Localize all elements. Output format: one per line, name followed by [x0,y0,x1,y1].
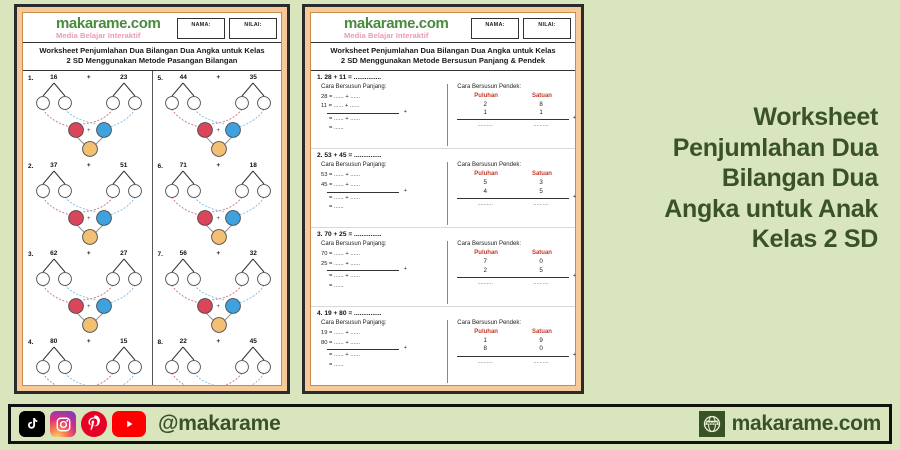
long-row-sum-parts: = ...... + ...... [321,272,442,282]
answer-blanks-row[interactable]: .................... [457,201,569,207]
brand-tagline: Media Belajar Interaktif [56,32,172,40]
long-method-rule [327,113,399,114]
method-divider [447,84,448,147]
number-bond-diagram: 62+27+ [30,250,148,335]
long-row-sum-total: = ...... [321,203,442,213]
long-method-heading: Cara Bersusun Panjang: [321,84,442,90]
answer-blanks-row[interactable]: .................... [457,122,569,128]
place-value-row: 19 [457,337,569,345]
ones-digit: 8 [539,101,542,109]
column-addition-problem: 1. 28 + 11 = ...............Cara Bersusu… [311,71,575,150]
brand-header-left: makarame.com Media Belajar Interaktif NA… [23,13,281,42]
tens-answer-blank[interactable]: .......... [478,122,493,128]
ones-answer-blank[interactable]: .......... [533,122,548,128]
long-row-addend-a: 28 = ...... + ...... [321,93,442,103]
social-handle: @makarame [158,412,281,436]
column-addition-problem: 4. 19 + 80 = ...............Cara Bersusu… [311,307,575,385]
field-nilai[interactable]: NILAI: [523,18,571,39]
instagram-icon[interactable] [50,411,76,437]
long-method-heading: Cara Bersusun Panjang: [321,241,442,247]
short-method-column: Cara Bersusun Pendek:PuluhanSatuan5345..… [453,162,569,225]
problem-statement: 3. 70 + 25 = ............... [317,231,569,238]
column-header-puluhan: Puluhan [474,93,498,99]
short-method-rule [457,198,569,199]
ones-digit: 1 [539,109,542,117]
place-value-row: 25 [457,267,569,275]
tens-answer-blank[interactable]: .......... [478,359,493,365]
promo-line-1: Worksheet [558,102,878,133]
column-header-puluhan: Puluhan [474,250,498,256]
column-addition-problem: 3. 70 + 25 = ...............Cara Bersusu… [311,228,575,307]
long-method-column: Cara Bersusun Panjang:19 = ...... + ....… [317,320,442,383]
svg-text:WWW: WWW [706,421,717,425]
tens-digit: 5 [483,179,486,187]
poster-canvas: makarame.com Media Belajar Interaktif NA… [0,0,900,450]
long-method-rule [327,270,399,271]
tens-digit: 1 [483,109,486,117]
worksheet-title-left: Worksheet Penjumlahan Dua Bilangan Dua A… [23,42,281,71]
ones-digit: 5 [539,188,542,196]
long-method-rule [327,349,399,350]
number-bond-diagram: 80+15+ [30,338,148,386]
short-method-rule [457,119,569,120]
long-row-addend-b: 80 = ...... + ...... [321,339,442,349]
number-bond-cell: 3.62+27+ [23,247,152,335]
tens-digit: 7 [483,258,486,266]
ones-digit: 0 [539,258,542,266]
tiktok-icon[interactable] [19,411,45,437]
column-addition-list: 1. 28 + 11 = ...............Cara Bersusu… [311,71,575,386]
long-row-addend-b: 45 = ...... + ...... [321,181,442,191]
column-addition-problem: 2. 53 + 45 = ...............Cara Bersusu… [311,149,575,228]
place-value-row: 28 [457,101,569,109]
ones-answer-blank[interactable]: .......... [533,359,548,365]
footer-bar: @makarame WWW makarame.com [8,404,892,444]
worksheet-page-right: makarame.com Media Belajar Interaktif NA… [302,4,584,394]
worksheet-page-left: makarame.com Media Belajar Interaktif NA… [14,4,290,394]
place-value-row: 11 [457,109,569,117]
tens-digit: 8 [483,345,486,353]
ones-digit: 5 [539,267,542,275]
promo-line-4: Angka untuk Anak [558,194,878,225]
method-divider [447,320,448,383]
answer-blanks-row[interactable]: .................... [457,359,569,365]
brand-tagline: Media Belajar Interaktif [344,32,466,40]
website-text: makarame.com [732,412,881,436]
place-value-row: 45 [457,188,569,196]
tens-digit: 2 [483,101,486,109]
meta-boxes-left: NAMA: NILAI: [177,18,277,39]
short-method-heading: Cara Bersusun Pendek: [457,241,569,247]
place-value-row: 70 [457,258,569,266]
field-nama[interactable]: NAMA: [177,18,225,39]
ones-digit: 9 [539,337,542,345]
social-links: @makarame [19,411,281,437]
title-line-1: Worksheet Penjumlahan Dua Bilangan Dua A… [29,46,275,56]
ones-digit: 0 [539,345,542,353]
number-bond-cell: 4.80+15+ [23,335,152,386]
website-block: WWW makarame.com [699,411,881,437]
tens-digit: 2 [483,267,486,275]
long-method-column: Cara Bersusun Panjang:53 = ...... + ....… [317,162,442,225]
number-bond-diagram: 16+23+ [30,74,148,159]
brand-header-right: makarame.com Media Belajar Interaktif NA… [311,13,575,42]
title-line-2: 2 SD Menggunakan Metode Pasangan Bilanga… [29,56,275,66]
title-line-2: 2 SD Menggunakan Metode Bersusun Panjang… [317,56,569,66]
qr-code-icon [27,16,51,40]
number-bond-cell: 5.44+35+ [153,71,282,159]
youtube-icon[interactable] [112,411,146,437]
problem-statement: 2. 53 + 45 = ............... [317,152,569,159]
long-row-sum-parts: = ...... + ...... [321,194,442,204]
page-border-left: makarame.com Media Belajar Interaktif NA… [17,7,287,391]
qr-code-icon [315,16,339,40]
long-row-addend-b: 25 = ...... + ...... [321,260,442,270]
short-method-heading: Cara Bersusun Pendek: [457,162,569,168]
short-method-column: Cara Bersusun Pendek:PuluhanSatuan1980..… [453,320,569,383]
number-bond-diagram: 44+35+ [159,74,277,159]
number-bond-cell: 1.16+23+ [23,71,152,159]
number-bond-cell: 8.22+45+ [153,335,282,386]
method-divider [447,162,448,225]
method-divider [447,241,448,304]
long-row-addend-b: 11 = ...... + ...... [321,102,442,112]
pinterest-icon[interactable] [81,411,107,437]
meta-boxes-right: NAMA: NILAI: [471,18,571,39]
short-method-rule [457,277,569,278]
brand-text-right: makarame.com Media Belajar Interaktif [344,16,466,40]
place-value-row: 53 [457,179,569,187]
column-header-satuan: Satuan [532,93,552,99]
place-value-table: PuluhanSatuan2811.................... [457,93,569,129]
promo-title: Worksheet Penjumlahan Dua Bilangan Dua A… [558,102,878,255]
promo-line-5: Kelas 2 SD [558,224,878,255]
long-row-addend-a: 19 = ...... + ...... [321,329,442,339]
number-bond-diagram: 37+51+ [30,162,148,247]
long-method-column: Cara Bersusun Panjang:70 = ...... + ....… [317,241,442,304]
long-method-heading: Cara Bersusun Panjang: [321,162,442,168]
place-value-row: 80 [457,345,569,353]
number-bond-diagram: 71+18+ [159,162,277,247]
brand-text-left: makarame.com Media Belajar Interaktif [56,16,172,40]
long-row-sum-total: = ...... [321,361,442,371]
place-value-table: PuluhanSatuan5345.................... [457,171,569,207]
column-header-puluhan: Puluhan [474,329,498,335]
page-border-right: makarame.com Media Belajar Interaktif NA… [305,7,581,391]
answer-blanks-row[interactable]: .................... [457,280,569,286]
number-bond-cell: 2.37+51+ [23,159,152,247]
tens-answer-blank[interactable]: .......... [478,201,493,207]
field-nilai[interactable]: NILAI: [229,18,277,39]
promo-line-2: Penjumlahan Dua [558,133,878,164]
long-method-rule [327,192,399,193]
number-bond-cell: 7.56+32+ [153,247,282,335]
number-bond-diagram: 22+45+ [159,338,277,386]
short-method-rule [457,356,569,357]
long-row-sum-total: = ...... [321,124,442,134]
tens-digit: 4 [483,188,486,196]
long-row-addend-a: 53 = ...... + ...... [321,171,442,181]
number-bond-grid: 1.16+23+5.44+35+2.37+51+6.71+18+3.62+27+… [23,71,281,386]
promo-line-3: Bilangan Dua [558,163,878,194]
page-paper-right: makarame.com Media Belajar Interaktif NA… [310,12,576,386]
column-header-satuan: Satuan [532,250,552,256]
www-globe-icon: WWW [699,411,725,437]
number-bond-diagram: 56+32+ [159,250,277,335]
ones-answer-blank[interactable]: .......... [533,201,548,207]
short-method-heading: Cara Bersusun Pendek: [457,320,569,326]
problem-statement: 1. 28 + 11 = ............... [317,74,569,81]
worksheet-title-right: Worksheet Penjumlahan Dua Bilangan Dua A… [311,42,575,71]
number-bond-cell: 6.71+18+ [153,159,282,247]
long-row-addend-a: 70 = ...... + ...... [321,250,442,260]
column-header-satuan: Satuan [532,171,552,177]
column-header-satuan: Satuan [532,329,552,335]
brand-name: makarame.com [344,16,466,31]
problem-statement: 4. 19 + 80 = ............... [317,310,569,317]
ones-answer-blank[interactable]: .......... [533,280,548,286]
ones-digit: 3 [539,179,542,187]
long-method-column: Cara Bersusun Panjang:28 = ...... + ....… [317,84,442,147]
brand-name: makarame.com [56,16,172,31]
page-paper-left: makarame.com Media Belajar Interaktif NA… [22,12,282,386]
tens-answer-blank[interactable]: .......... [478,280,493,286]
long-row-sum-parts: = ...... + ...... [321,115,442,125]
short-method-heading: Cara Bersusun Pendek: [457,84,569,90]
tens-digit: 1 [483,337,486,345]
long-method-heading: Cara Bersusun Panjang: [321,320,442,326]
short-method-column: Cara Bersusun Pendek:PuluhanSatuan2811..… [453,84,569,147]
long-row-sum-total: = ...... [321,282,442,292]
place-value-table: PuluhanSatuan7025.................... [457,250,569,286]
long-row-sum-parts: = ...... + ...... [321,351,442,361]
column-header-puluhan: Puluhan [474,171,498,177]
field-nama[interactable]: NAMA: [471,18,519,39]
place-value-table: PuluhanSatuan1980.................... [457,329,569,365]
title-line-1: Worksheet Penjumlahan Dua Bilangan Dua A… [317,46,569,56]
short-method-column: Cara Bersusun Pendek:PuluhanSatuan7025..… [453,241,569,304]
